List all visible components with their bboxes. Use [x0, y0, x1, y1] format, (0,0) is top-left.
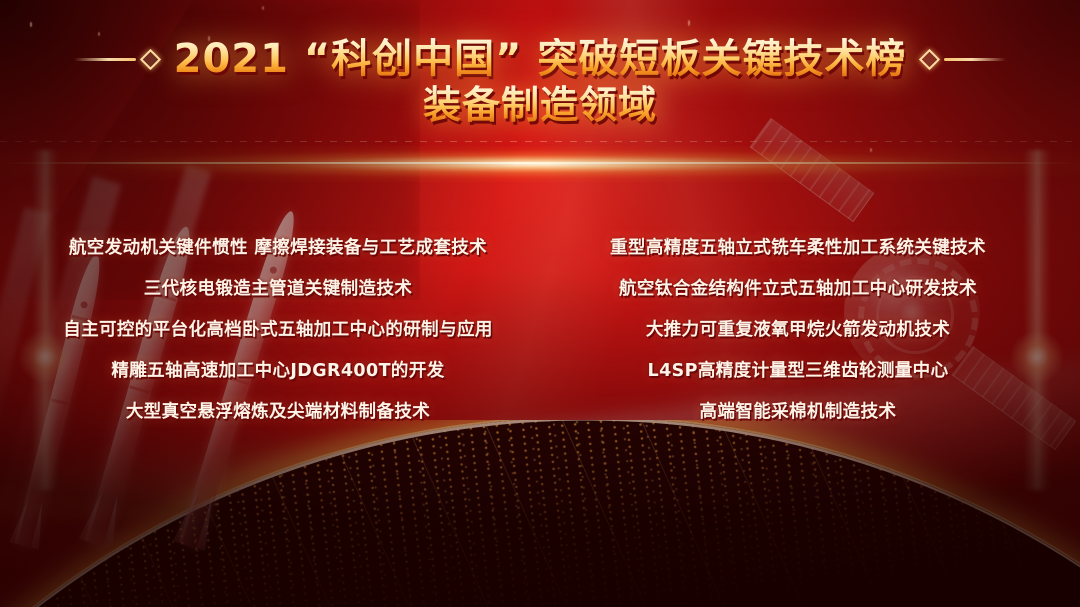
technology-item: 航空钛合金结构件立式五轴加工中心研发技术 [538, 269, 1058, 310]
technology-columns: 航空发动机关键件惯性 摩擦焊接装备与工艺成套技术 三代核电锻造主管道关键制造技术… [0, 228, 1080, 433]
horizon-glow [0, 146, 1080, 182]
ornament-line [944, 58, 1006, 61]
poster-title-line-1: 2021 “科创中国” 突破短板关键技术榜 [174, 38, 907, 81]
technology-item: 航空发动机关键件惯性 摩擦焊接装备与工艺成套技术 [18, 228, 538, 269]
sparkle [870, 148, 872, 152]
title-row-2: 装备制造领域 [0, 85, 1080, 126]
technology-column-left: 航空发动机关键件惯性 摩擦焊接装备与工艺成套技术 三代核电锻造主管道关键制造技术… [0, 228, 538, 433]
poster-title-line-2: 装备制造领域 [423, 85, 657, 126]
title-row-1: 2021 “科创中国” 突破短板关键技术榜 [0, 38, 1080, 81]
sparkle [688, 20, 690, 26]
sparkle [262, 6, 264, 10]
technology-column-right: 重型高精度五轴立式铣车柔性加工系统关键技术 航空钛合金结构件立式五轴加工中心研发… [538, 228, 1080, 433]
horizon-bright-line [0, 162, 1080, 164]
technology-item: L4SP高精度计量型三维齿轮测量中心 [538, 351, 1058, 392]
technology-item: 精雕五轴高速加工中心JDGR400T的开发 [18, 351, 538, 392]
poster-stage: 2021 “科创中国” 突破短板关键技术榜 装备制造领域 航空发动机关键件惯性 … [0, 0, 1080, 607]
ornament-line [74, 58, 136, 61]
technology-item: 大型真空悬浮熔炼及尖端材料制备技术 [18, 392, 538, 433]
title-ornament-left [74, 52, 158, 67]
diamond-icon [140, 49, 161, 70]
technology-item: 大推力可重复液氧甲烷火箭发动机技术 [538, 310, 1058, 351]
technology-item: 三代核电锻造主管道关键制造技术 [18, 269, 538, 310]
sparkle [30, 22, 32, 27]
horizon-dashed-line [0, 141, 1080, 142]
earth-horizon [0, 420, 1080, 607]
technology-item: 高端智能采棉机制造技术 [538, 392, 1058, 433]
sparkle [98, 32, 100, 36]
technology-item: 重型高精度五轴立式铣车柔性加工系统关键技术 [538, 228, 1058, 269]
technology-item: 自主可控的平台化高档卧式五轴加工中心的研制与应用 [18, 310, 538, 351]
diamond-icon [919, 49, 940, 70]
poster-title-block: 2021 “科创中国” 突破短板关键技术榜 装备制造领域 [0, 38, 1080, 126]
title-ornament-right [922, 52, 1006, 67]
globe-limb-glow [0, 420, 1080, 607]
